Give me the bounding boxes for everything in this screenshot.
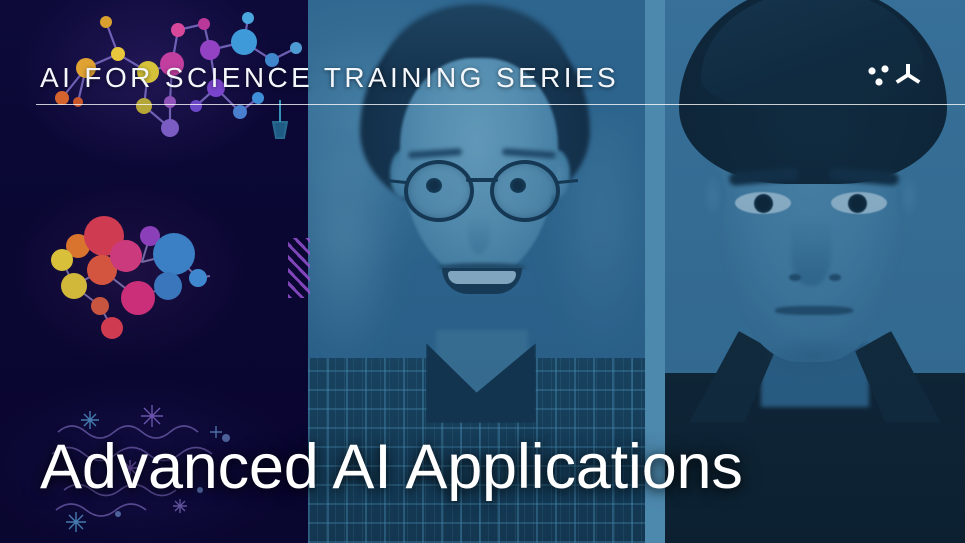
eyeglasses [404, 160, 560, 216]
eye-left [735, 192, 791, 214]
diagonal-stripe-accent [288, 238, 310, 298]
header-horizontal-rule [36, 104, 965, 105]
ear-right [897, 170, 921, 222]
iris-left [754, 194, 773, 213]
eye-right [510, 178, 526, 193]
nostril-left [789, 274, 801, 281]
argonne-logo-icon [865, 60, 937, 96]
eye-left [426, 178, 442, 193]
nostril-right [829, 274, 841, 281]
mouth [775, 306, 853, 315]
ear-left [701, 170, 725, 222]
chin-shadow [763, 336, 865, 376]
lens-right [490, 160, 560, 222]
series-eyebrow-text: AI FOR SCIENCE TRAINING SERIES [40, 62, 619, 94]
glasses-bridge [466, 178, 498, 182]
nose [468, 214, 490, 254]
eye-right [831, 192, 887, 214]
slide-title: Advanced AI Applications [40, 436, 743, 499]
video-thumbnail-slide: AI FOR SCIENCE TRAINING SERIES Advanced … [0, 0, 965, 543]
iris-right [848, 194, 867, 213]
teeth [448, 271, 516, 284]
